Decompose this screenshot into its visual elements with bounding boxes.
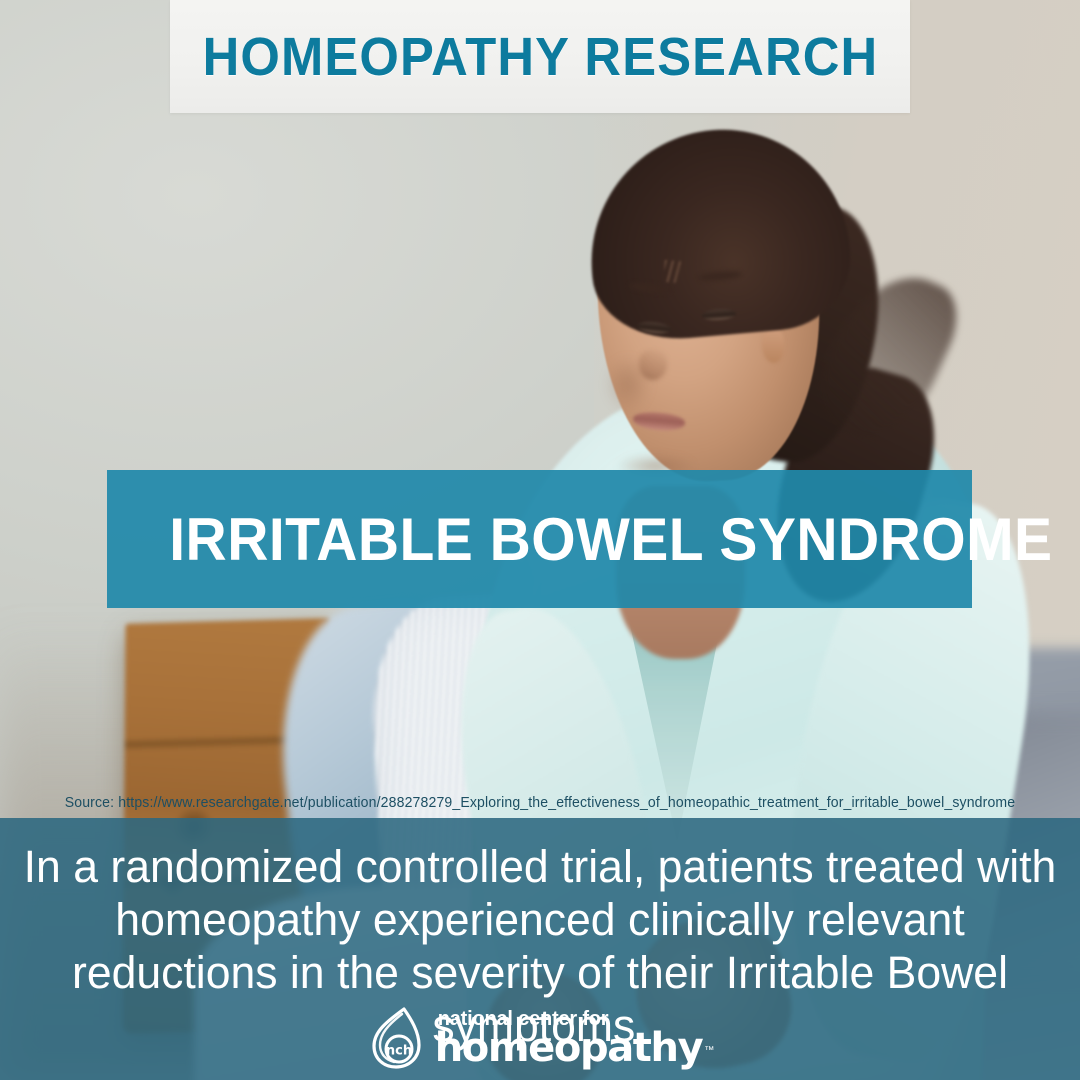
svg-text:nch: nch bbox=[386, 1044, 412, 1059]
source-citation[interactable]: Source: https://www.researchgate.net/pub… bbox=[16, 795, 1064, 811]
poster-canvas: HOMEOPATHY RESEARCH IRRITABLE BOWEL SYND… bbox=[0, 0, 1080, 1080]
condition-title: IRRITABLE BOWEL SYNDROME bbox=[169, 505, 1052, 574]
header-banner: HOMEOPATHY RESEARCH bbox=[170, 0, 910, 113]
frown-lines bbox=[663, 260, 691, 284]
trademark-symbol: ™ bbox=[704, 1046, 714, 1056]
page-title: HOMEOPATHY RESEARCH bbox=[202, 26, 878, 88]
nch-logo[interactable]: nch national center for homeopathy ™ bbox=[0, 1006, 1080, 1070]
ear bbox=[762, 329, 784, 363]
logo-wordmark: national center for homeopathy ™ bbox=[435, 1009, 715, 1067]
condition-title-band: IRRITABLE BOWEL SYNDROME bbox=[107, 470, 972, 608]
logo-line-2: homeopathy bbox=[435, 1030, 703, 1067]
water-drop-icon: nch bbox=[366, 1006, 426, 1070]
